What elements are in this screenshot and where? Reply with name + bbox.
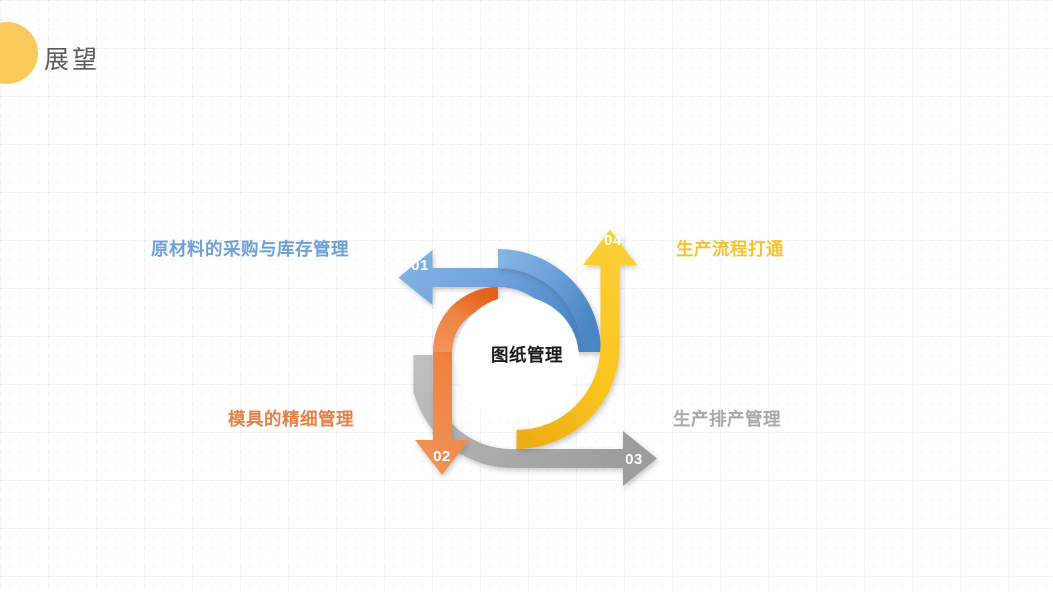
process-arrow-03: 03 (414, 355, 658, 486)
circular-process-diagram: 03 01 02 04 (0, 0, 1053, 592)
process-arrow-01-tail (498, 249, 601, 352)
process-arrow-03-number: 03 (625, 451, 643, 468)
process-arrow-01: 01 (399, 250, 602, 352)
process-arrow-04: 04 (517, 230, 638, 449)
process-label-03: 生产排产管理 (673, 406, 781, 431)
process-label-04: 生产流程打通 (676, 236, 784, 261)
decorative-circle (0, 22, 38, 84)
diagram-center-label: 图纸管理 (472, 342, 582, 367)
process-label-01: 原材料的采购与库存管理 (151, 236, 349, 261)
slide-canvas: 展望 (0, 0, 1053, 592)
process-label-02: 模具的精细管理 (228, 406, 354, 431)
process-arrow-01-number: 01 (411, 257, 429, 274)
process-arrow-02 (415, 287, 498, 475)
page-title: 展望 (44, 40, 100, 76)
process-arrow-04-number: 04 (604, 232, 622, 249)
process-arrow-02-number: 02 (433, 448, 451, 465)
